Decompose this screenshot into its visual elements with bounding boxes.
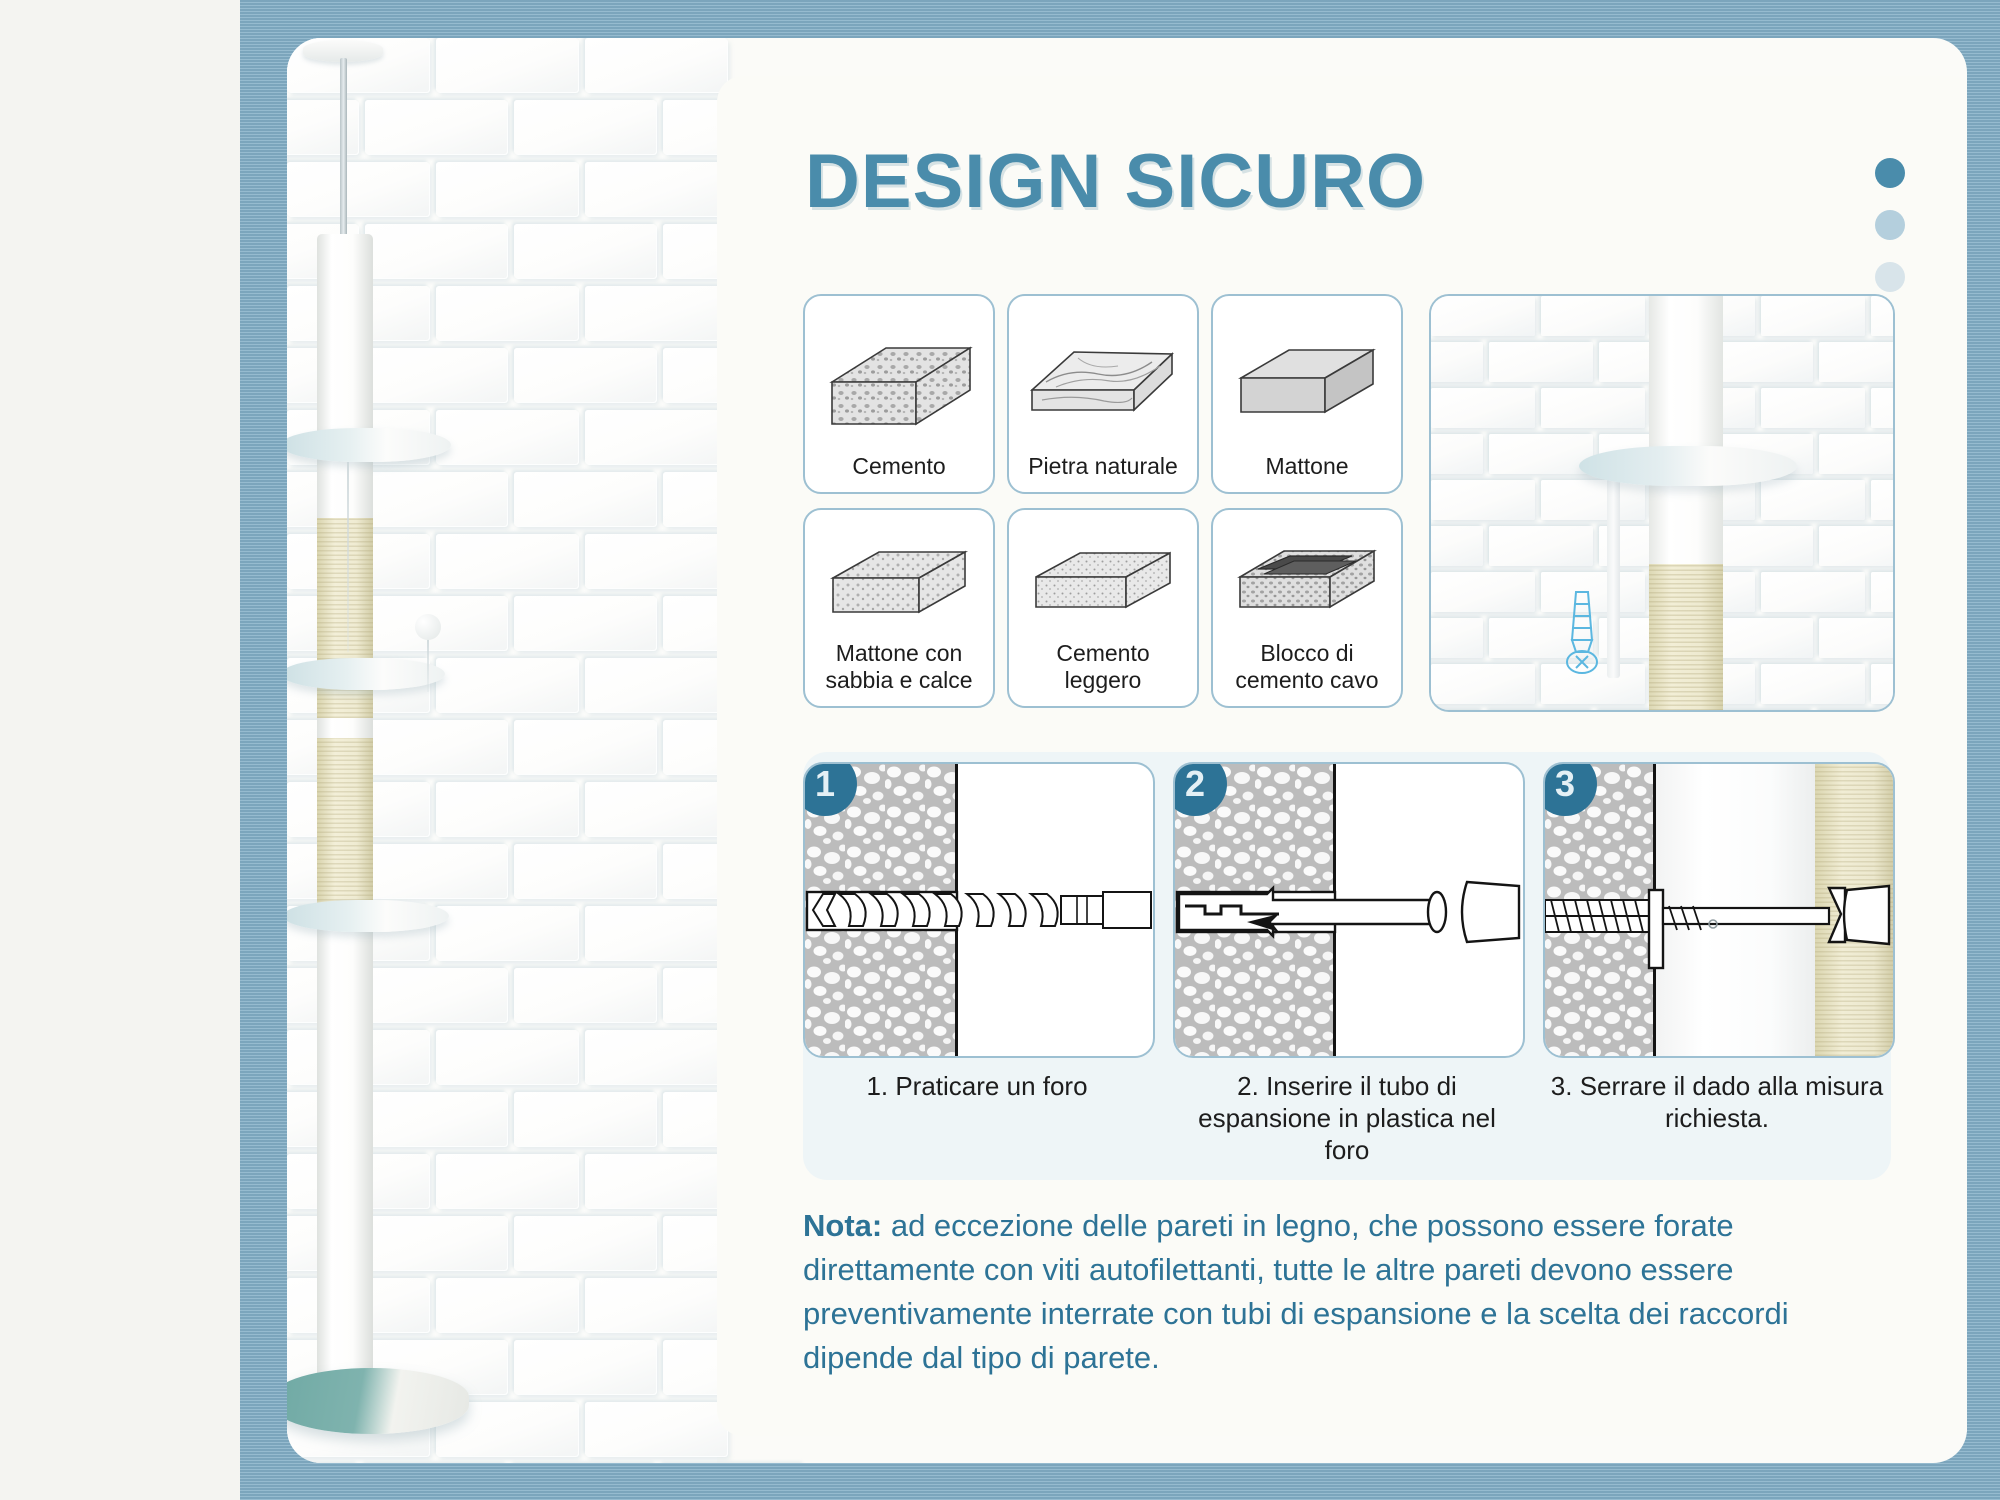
material-label: Cemento (852, 453, 945, 484)
photo-brick (1709, 342, 1813, 382)
step-3-caption: 3. Serrare il dado alla misura richiesta… (1543, 1070, 1891, 1134)
photo-brick (1489, 342, 1593, 382)
brick-icon (1219, 308, 1395, 453)
wall-mount-photo-panel (1429, 294, 1895, 712)
title-underline (801, 222, 1513, 242)
concrete-block-icon (811, 308, 987, 453)
photo-brick (1819, 618, 1895, 658)
photo-platform (1579, 446, 1797, 486)
sisal-section-mid (317, 738, 373, 923)
photo-brick (1871, 480, 1895, 520)
toy-string-long (347, 462, 349, 652)
photo-brick (1429, 434, 1483, 474)
drill-bit-icon (805, 764, 1153, 1056)
step-2-caption: 2. Inserire il tubo di espansione in pla… (1173, 1070, 1521, 1167)
cat-tree-product-image (287, 38, 717, 1463)
step-2: 2 (1173, 762, 1521, 1167)
photo-brick-row (1431, 710, 1895, 712)
plastic-anchor-icon (1175, 764, 1523, 1056)
photo-brick (1761, 296, 1865, 336)
photo-brick (1761, 572, 1865, 612)
photo-brick (1429, 526, 1483, 566)
photo-brick (1709, 618, 1813, 658)
hollow-concrete-block-icon (1219, 522, 1395, 640)
dot-dark-icon (1875, 158, 1905, 188)
photo-brick (1429, 342, 1483, 382)
natural-stone-slab-icon (1015, 308, 1191, 453)
photo-brick (1431, 296, 1535, 336)
material-label: Mattone con sabbia e calce (811, 640, 987, 698)
material-label: Blocco di cemento cavo (1219, 640, 1395, 698)
photo-brick (1761, 480, 1865, 520)
photo-wall-bracket (1607, 472, 1620, 678)
photo-brick (1871, 296, 1895, 336)
photo-brick (1429, 710, 1483, 712)
photo-brick (1541, 388, 1645, 428)
lightweight-concrete-icon (1015, 522, 1191, 640)
step-3-illustration: 3 (1543, 762, 1895, 1058)
step-2-illustration: 2 (1173, 762, 1525, 1058)
platform-top (287, 428, 451, 462)
platform-lower (287, 900, 449, 932)
photo-brick (1541, 296, 1645, 336)
material-label: Mattone (1265, 453, 1348, 484)
photo-brick (1819, 710, 1895, 712)
photo-brick (1871, 572, 1895, 612)
material-grid: Cemento Pietra nat (803, 294, 1403, 708)
base-platform (287, 1368, 469, 1434)
photo-brick (1761, 388, 1865, 428)
page-title-wrapper: DESIGN SICURO (805, 144, 1426, 220)
step-1-caption: 1. Praticare un foro (803, 1070, 1151, 1102)
photo-brick (1709, 526, 1813, 566)
photo-brick (1541, 480, 1645, 520)
dangling-toy-ball (415, 614, 441, 640)
note-text: ad eccezione delle pareti in legno, che … (803, 1208, 1789, 1375)
material-card-mattone-sabbia-calce[interactable]: Mattone con sabbia e calce (803, 508, 995, 708)
photo-brick (1489, 434, 1593, 474)
dot-medium-icon (1875, 210, 1905, 240)
photo-brick (1429, 618, 1483, 658)
photo-brick (1709, 710, 1813, 712)
photo-brick (1431, 388, 1535, 428)
step-1: 1 (803, 762, 1151, 1167)
inner-panel: DESIGN SICURO (287, 38, 1967, 1463)
photo-brick (1599, 710, 1703, 712)
material-card-blocco-cemento-cavo[interactable]: Blocco di cemento cavo (1211, 508, 1403, 708)
installation-steps: 1 (803, 762, 1891, 1167)
photo-brick (1819, 526, 1895, 566)
sand-lime-brick-icon (811, 522, 987, 640)
material-card-cemento-leggero[interactable]: Cemento leggero (1007, 508, 1199, 708)
photo-brick (1871, 664, 1895, 704)
material-label: Pietra naturale (1028, 453, 1178, 484)
dot-light-icon (1875, 262, 1905, 292)
step-1-illustration: 1 (803, 762, 1155, 1058)
photo-brick (1761, 664, 1865, 704)
content-card: DESIGN SICURO (717, 76, 1967, 1436)
photo-brick (1489, 710, 1593, 712)
photo-sisal (1649, 564, 1723, 712)
photo-brick (1489, 526, 1593, 566)
material-card-mattone[interactable]: Mattone (1211, 294, 1403, 494)
material-card-pietra-naturale[interactable]: Pietra naturale (1007, 294, 1199, 494)
step-3: 3 (1543, 762, 1891, 1167)
material-card-cemento[interactable]: Cemento (803, 294, 995, 494)
photo-brick (1871, 388, 1895, 428)
photo-brick (1431, 664, 1535, 704)
platform-middle (287, 658, 445, 690)
photo-brick (1819, 342, 1895, 382)
tension-rod (340, 58, 347, 240)
decorative-dots (1875, 158, 1905, 314)
infographic-root: DESIGN SICURO (0, 0, 2000, 1500)
toy-string (427, 638, 429, 692)
note-label: Nota: (803, 1208, 882, 1243)
note-paragraph: Nota: ad eccezione delle pareti in legno… (803, 1204, 1901, 1380)
photo-brick (1431, 480, 1535, 520)
page-title: DESIGN SICURO (805, 144, 1426, 220)
material-label: Cemento leggero (1015, 640, 1191, 698)
photo-brick (1431, 572, 1535, 612)
blue-screw-illustration-icon (1558, 586, 1606, 687)
photo-brick (1819, 434, 1895, 474)
